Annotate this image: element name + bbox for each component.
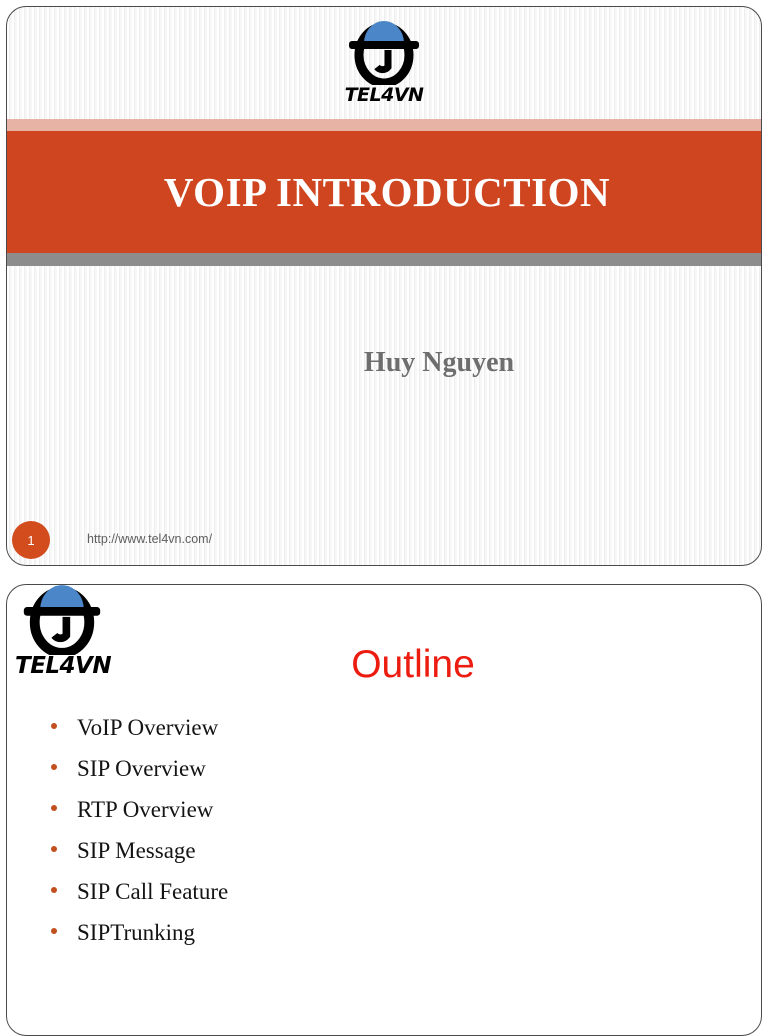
list-item-label: SIP Overview	[77, 757, 206, 780]
outline-title: Outline	[7, 643, 761, 687]
list-item-label: RTP Overview	[77, 798, 213, 821]
bullet-icon	[51, 723, 57, 729]
title-band-accent	[7, 119, 761, 131]
brand-wordmark: TEL4VN	[15, 655, 107, 678]
brand-logo: TEL4VN	[332, 19, 436, 105]
brand-wordmark: TEL4VN	[332, 86, 436, 105]
list-item: SIP Call Feature	[51, 880, 228, 903]
bullet-icon	[51, 764, 57, 770]
bullet-icon	[51, 928, 57, 934]
list-item-label: VoIP Overview	[77, 716, 218, 739]
tel4vn-logo-icon	[347, 19, 421, 85]
bullet-icon	[51, 846, 57, 852]
page-title: VOIP INTRODUCTION	[158, 168, 610, 216]
brand-logo: TEL4VN	[15, 584, 107, 678]
list-item: SIP Overview	[51, 757, 228, 780]
bullet-icon	[51, 805, 57, 811]
presenter-name: Huy Nguyen	[7, 347, 761, 379]
outline-list: VoIP Overview SIP Overview RTP Overview …	[51, 716, 228, 962]
title-band: VOIP INTRODUCTION	[7, 131, 761, 253]
list-item: SIP Message	[51, 839, 228, 862]
list-item-label: SIP Message	[77, 839, 196, 862]
list-item-label: SIP Call Feature	[77, 880, 228, 903]
slide-outline-page: TEL4VN Outline VoIP Overview SIP Overvie…	[6, 584, 762, 1036]
slide-number-badge: 1	[12, 521, 50, 559]
list-item: SIPTrunking	[51, 921, 228, 944]
tel4vn-logo-icon	[19, 584, 105, 655]
bullet-icon	[51, 887, 57, 893]
title-band-shadow	[7, 253, 761, 266]
footer-url: http://www.tel4vn.com/	[87, 532, 212, 546]
list-item: RTP Overview	[51, 798, 228, 821]
slide-title-page: TEL4VN VOIP INTRODUCTION Huy Nguyen http…	[6, 6, 762, 566]
list-item-label: SIPTrunking	[77, 921, 195, 944]
list-item: VoIP Overview	[51, 716, 228, 739]
